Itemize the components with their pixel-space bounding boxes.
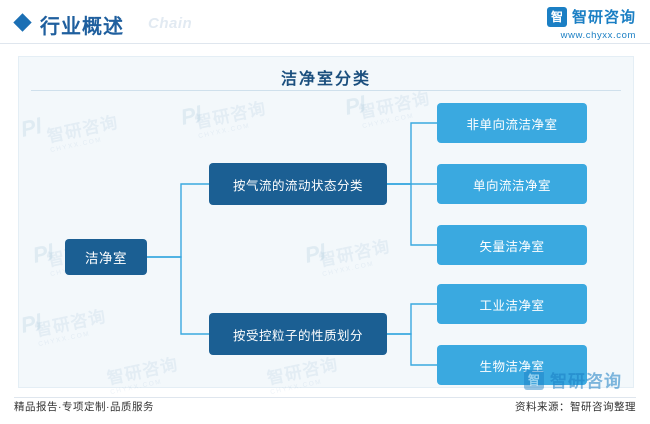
diagram-node-root[interactable]: 洁净室 — [65, 239, 147, 275]
diagram-title-divider — [31, 90, 621, 91]
brand-name: 智研咨询 — [572, 6, 636, 27]
diagram-node-branch-1[interactable]: 按气流的流动状态分类 — [209, 163, 387, 205]
footer-divider — [14, 397, 636, 398]
watermark-text: 智研咨询CHYXX.COM — [192, 94, 269, 140]
watermark-badge: Pl — [19, 113, 45, 143]
page-title: 行业概述 — [40, 10, 124, 39]
header-divider — [0, 43, 650, 44]
watermark-badge: Pl — [343, 91, 369, 121]
diagram-node-branch-2[interactable]: 按受控粒子的性质划分 — [209, 313, 387, 355]
watermark-badge: Pl — [19, 309, 45, 339]
watermark-text: 智研咨询CHYXX.COM — [32, 302, 109, 348]
diagram-title: 洁净室分类 — [19, 65, 633, 89]
brand-logo-row: 智 智研咨询 — [547, 6, 636, 27]
brand-mark-icon: 智 — [547, 7, 567, 27]
diagram-panel: 洁净室分类 智研咨询CHYXX.COM 智研咨询CHYXX.COM 智研咨询CH… — [18, 56, 634, 388]
diagram-node-leaf-2-1[interactable]: 工业洁净室 — [437, 284, 587, 324]
diagram-node-leaf-2-2[interactable]: 生物洁净室 — [437, 345, 587, 385]
watermark-text: 智研咨询CHYXX.COM — [316, 232, 393, 278]
diagram-node-leaf-1-1[interactable]: 非单向流洁净室 — [437, 103, 587, 143]
watermark-text: 智研咨询CHYXX.COM — [104, 350, 181, 396]
watermark-text: 智研咨询CHYXX.COM — [44, 108, 121, 154]
brand-url[interactable]: www.chyxx.com — [561, 30, 636, 41]
footer-slogan: 精品报告·专项定制·品质服务 — [14, 399, 154, 414]
watermark-badge: Pl — [179, 101, 205, 131]
watermark-badge: Pl — [303, 239, 329, 269]
diamond-icon — [13, 13, 31, 31]
brand-logo[interactable]: 智 智研咨询 www.chyxx.com — [547, 6, 636, 41]
page-header: 行业概述 Chain 智 智研咨询 www.chyxx.com — [0, 0, 650, 44]
diagram-node-leaf-1-3[interactable]: 矢量洁净室 — [437, 225, 587, 265]
watermark-badge: Pl — [31, 239, 57, 269]
watermark-text: 智研咨询CHYXX.COM — [264, 350, 341, 396]
page-subtitle: Chain — [148, 15, 192, 32]
diagram-node-leaf-1-2[interactable]: 单向流洁净室 — [437, 164, 587, 204]
footer-source: 资料来源：智研咨询整理 — [515, 399, 636, 414]
